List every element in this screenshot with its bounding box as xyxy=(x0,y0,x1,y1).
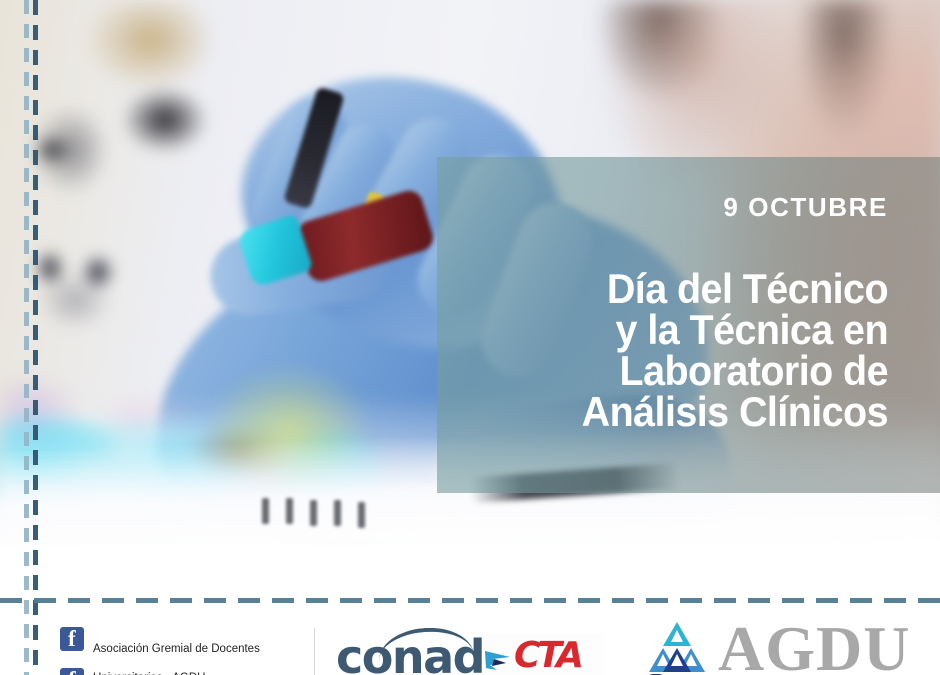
cta-wordmark: CTA xyxy=(514,638,581,674)
photo-paper-mark-5 xyxy=(358,502,365,528)
photo-paper-mark-4 xyxy=(334,500,341,526)
event-title: Día del Técnico y la Técnica en Laborato… xyxy=(493,268,888,433)
footer-divider xyxy=(314,628,315,675)
conadu-logo[interactable]: conadu xyxy=(336,628,471,675)
event-title-line-4: Análisis Clínicos xyxy=(493,391,888,432)
triangle-logo[interactable] xyxy=(636,620,718,675)
agdu-wordmark: AGDU xyxy=(718,617,910,675)
facebook-page-name-line-1: Asociación Gremial de Docentes xyxy=(93,643,260,655)
dashed-vertical-rule-light xyxy=(24,0,29,675)
photo-paper-mark-2 xyxy=(286,498,293,524)
photo-paper-mark-1 xyxy=(262,498,269,524)
facebook-icon[interactable] xyxy=(60,627,84,651)
dashed-vertical-rule-dark xyxy=(33,0,38,675)
event-title-line-3: Laboratorio de xyxy=(493,350,888,391)
facebook-credit[interactable]: Asociación Gremial de Docentes Universit… xyxy=(60,627,260,675)
cta-logo[interactable]: CTA xyxy=(484,634,604,675)
event-title-line-2: y la Técnica en xyxy=(493,309,888,350)
facebook-icon-secondary[interactable] xyxy=(60,668,84,675)
event-title-line-1: Día del Técnico xyxy=(493,268,888,309)
facebook-page-name: Asociación Gremial de Docentes Universit… xyxy=(93,627,260,675)
event-date: 9 OCTUBRE xyxy=(723,194,888,220)
poster-root: 9 OCTUBRE Día del Técnico y la Técnica e… xyxy=(0,0,940,675)
photo-paper-mark-3 xyxy=(310,500,317,526)
dashed-horizontal-rule xyxy=(0,598,940,603)
